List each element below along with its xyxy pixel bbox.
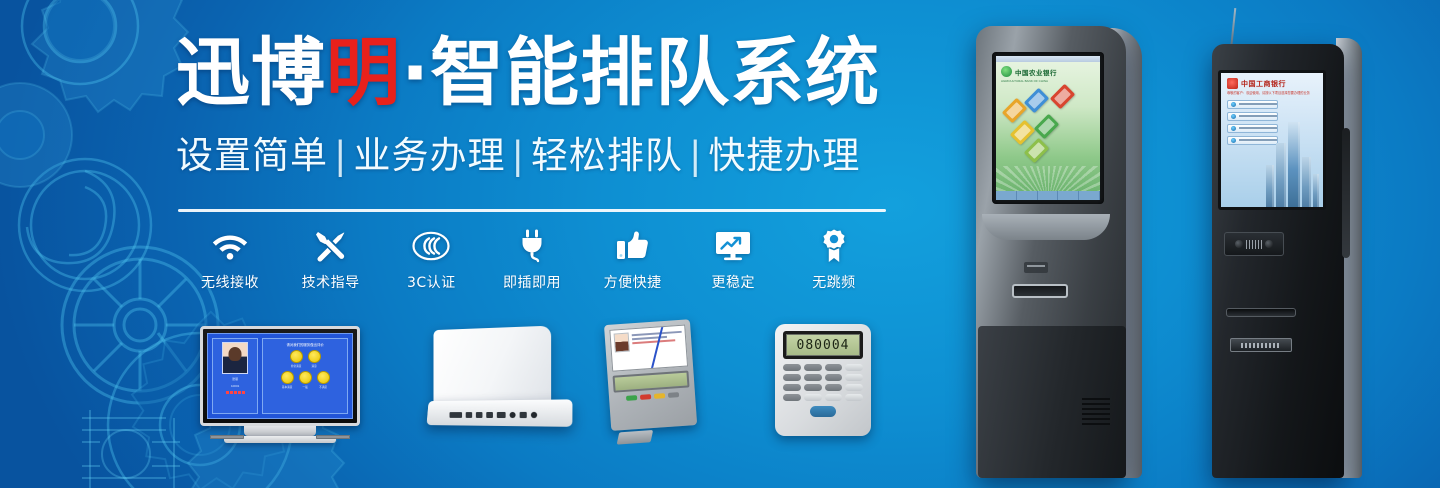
- desk-name-card: [609, 325, 688, 372]
- feature-label: 无线接收: [182, 272, 278, 292]
- screen-tab[interactable]: [1017, 191, 1038, 200]
- monitor-chart-icon: [685, 226, 781, 266]
- kiosk-b-skyline-decoration: [1266, 111, 1323, 207]
- kiosk-queue-icbc: 中国工商银行 尊敬的客户：欢迎使用，请按以下项目选择您要办理的业务: [1196, 8, 1376, 478]
- title-part-4: 智能排队系统: [430, 30, 880, 116]
- desk-button-other[interactable]: [667, 392, 678, 398]
- keypad-key[interactable]: [783, 364, 801, 371]
- rating-option-label: 基本满意: [281, 385, 294, 389]
- service-tile[interactable]: [1024, 88, 1049, 113]
- keypad-key[interactable]: [845, 394, 863, 401]
- rating-option-label: 非常满意: [290, 364, 303, 368]
- feature-item-plug-and-play: 即插即用: [484, 226, 580, 292]
- monitor-port-strip: [200, 435, 360, 439]
- kiosk-a-screen-housing: 中国农业银行 AGRICULTURAL BANK OF CHINA: [992, 52, 1104, 204]
- feature-list: 无线接收 技术指导 3C认证: [182, 226, 882, 292]
- icbc-logo-mark-icon: [1227, 78, 1238, 89]
- host-port-row: [450, 412, 538, 418]
- keypad-display-value: 080004: [786, 334, 860, 356]
- subtitle-item-4: 快捷办理: [708, 134, 860, 177]
- keypad-key[interactable]: [825, 374, 843, 381]
- rating-row-bottom: 基本满意 一般 不满意: [281, 371, 330, 389]
- monitor-screen: 张丽 10001 请对我们的服务做出评价 非常满意 满意 基本满意 一般: [207, 333, 353, 419]
- subtitle-separator: |: [683, 134, 708, 177]
- rating-option-label: 一般: [299, 385, 312, 389]
- wifi-icon: [182, 226, 278, 266]
- desk-button-row: [614, 391, 690, 401]
- gear-spiral-icon: [0, 140, 170, 310]
- desk-staff-photo: [614, 333, 630, 353]
- product-keypad-terminal: 080004: [775, 324, 875, 440]
- feature-item-more-stable: 更稳定: [685, 226, 781, 292]
- keypad-key-grid[interactable]: [783, 364, 863, 401]
- feature-label: 3C认证: [383, 272, 479, 292]
- rating-option[interactable]: 基本满意: [281, 371, 294, 389]
- subtitle-item-1: 设置简单: [176, 134, 328, 177]
- product-monitor-evaluator: 张丽 10001 请对我们的服务做出评价 非常满意 满意 基本满意 一般: [200, 326, 360, 439]
- rating-row-top: 非常满意 满意: [290, 350, 321, 368]
- subtitle-separator: |: [505, 134, 530, 177]
- keypad-key[interactable]: [845, 384, 863, 391]
- subtitle-separator: |: [328, 134, 353, 177]
- product-host-controller: [420, 328, 570, 438]
- service-tile[interactable]: [1010, 120, 1035, 145]
- keypad-enter-button[interactable]: [810, 406, 836, 417]
- kiosk-b-vertical-slot: [1342, 128, 1350, 258]
- kiosk-b-brand-plate: [1230, 338, 1292, 352]
- kiosk-a-vent: [1082, 398, 1110, 432]
- title-part-highlight: 明: [326, 30, 401, 116]
- screen-tab[interactable]: [996, 191, 1017, 200]
- feature-label: 即插即用: [484, 272, 580, 292]
- kiosk-b-bank-logo: 中国工商银行: [1221, 73, 1323, 90]
- rating-option-label: 不满意: [317, 385, 330, 389]
- rating-option[interactable]: 不满意: [317, 371, 330, 389]
- product-showcase: 张丽 10001 请对我们的服务做出评价 非常满意 满意 基本满意 一般: [0, 318, 900, 458]
- desk-evaluator-body: [604, 319, 697, 431]
- kiosk-b-screen-housing: 中国工商银行 尊敬的客户：欢迎使用，请按以下项目选择您要办理的业务: [1218, 70, 1326, 210]
- subtitle-item-3: 轻松排队: [531, 134, 683, 177]
- rating-option[interactable]: 满意: [308, 350, 321, 368]
- service-tile[interactable]: [1050, 84, 1075, 109]
- kiosk-b-bank-name: 中国工商银行: [1241, 79, 1286, 89]
- keypad-key[interactable]: [825, 384, 843, 391]
- feature-label: 无跳频: [786, 272, 882, 292]
- staff-name: 张丽: [232, 377, 238, 381]
- keypad-key[interactable]: [825, 364, 843, 371]
- rating-option[interactable]: 非常满意: [290, 350, 303, 368]
- screen-tab[interactable]: [1079, 191, 1100, 200]
- headline-block: 迅博明·智能排队系统 设置简单|业务办理|轻松排队|快捷办理: [176, 36, 896, 179]
- menu-item[interactable]: [1227, 100, 1278, 109]
- keypad-key[interactable]: [783, 394, 801, 401]
- keypad-key[interactable]: [783, 374, 801, 381]
- kiosk-a-bank-logo: 中国农业银行: [996, 62, 1100, 79]
- feature-item-convenient: 方便快捷: [585, 226, 681, 292]
- horizontal-divider: [178, 209, 886, 212]
- page-title: 迅博明·智能排队系统: [176, 36, 896, 111]
- keypad-body: 080004: [775, 324, 871, 436]
- rating-stars: [226, 391, 245, 394]
- service-tile[interactable]: [1024, 138, 1049, 163]
- monitor-bezel: 张丽 10001 请对我们的服务做出评价 非常满意 满意 基本满意 一般: [200, 326, 360, 426]
- feature-item-no-freq-hop: 无跳频: [786, 226, 882, 292]
- kiosk-b-ticket-slot[interactable]: [1226, 308, 1296, 317]
- tools-icon: [283, 226, 379, 266]
- keypad-key[interactable]: [783, 384, 801, 391]
- desk-lcd-display: [613, 370, 690, 392]
- product-desktop-evaluator: [596, 319, 708, 444]
- desk-card-text: [632, 329, 684, 366]
- keypad-key[interactable]: [845, 364, 863, 371]
- kiosk-a-screen[interactable]: 中国农业银行 AGRICULTURAL BANK OF CHINA: [996, 56, 1100, 200]
- host-panel: [433, 326, 551, 411]
- keypad-key[interactable]: [804, 374, 822, 381]
- desk-button-average[interactable]: [653, 393, 664, 399]
- desk-button-satisfied[interactable]: [625, 395, 636, 401]
- ccc-icon: [383, 226, 479, 266]
- keypad-key[interactable]: [804, 384, 822, 391]
- kiosk-a-service-tiles[interactable]: [996, 85, 1100, 169]
- feature-label: 方便快捷: [585, 272, 681, 292]
- title-part-1: 迅博: [176, 30, 326, 116]
- subtitle: 设置简单|业务办理|轻松排队|快捷办理: [176, 125, 896, 179]
- kiosk-a-screen-tabbar[interactable]: [996, 191, 1100, 200]
- staff-card-panel: 张丽 10001: [212, 338, 258, 414]
- rating-panel: 请对我们的服务做出评价 非常满意 满意 基本满意 一般 不满意: [262, 338, 348, 414]
- desk-stand: [617, 430, 654, 445]
- feature-label: 更稳定: [685, 272, 781, 292]
- keypad-key[interactable]: [825, 394, 843, 401]
- kiosk-b-screen[interactable]: 中国工商银行 尊敬的客户：欢迎使用，请按以下项目选择您要办理的业务: [1221, 73, 1323, 207]
- kiosk-a-bank-subtitle: AGRICULTURAL BANK OF CHINA: [996, 79, 1100, 83]
- plug-icon: [484, 226, 580, 266]
- abc-logo-mark-icon: [1001, 66, 1012, 77]
- gear-left-edge-icon: [0, 70, 160, 200]
- feature-item-tech-support: 技术指导: [283, 226, 379, 292]
- kiosk-a-ticket-slot[interactable]: [1012, 284, 1068, 298]
- promo-banner: 迅博明·智能排队系统 设置简单|业务办理|轻松排队|快捷办理 无线接收: [0, 0, 1440, 488]
- staff-photo: [222, 342, 248, 374]
- kiosk-b-notice: 尊敬的客户：欢迎使用，请按以下项目选择您要办理的业务: [1221, 90, 1323, 96]
- award-icon: [786, 226, 882, 266]
- keypad-key[interactable]: [804, 364, 822, 371]
- feature-item-3c-certified: 3C认证: [383, 226, 479, 292]
- kiosk-a-bank-name: 中国农业银行: [1015, 67, 1057, 77]
- rating-option-label: 满意: [308, 364, 321, 368]
- subtitle-item-2: 业务办理: [353, 134, 505, 177]
- screen-tab[interactable]: [1058, 191, 1079, 200]
- thumbs-up-icon: [585, 226, 681, 266]
- feature-label: 技术指导: [283, 272, 379, 292]
- staff-id: 10001: [231, 384, 239, 388]
- feature-item-wireless: 无线接收: [182, 226, 278, 292]
- rating-question: 请对我们的服务做出评价: [286, 342, 323, 347]
- keypad-key[interactable]: [845, 374, 863, 381]
- service-tile[interactable]: [1034, 114, 1059, 139]
- rating-option[interactable]: 一般: [299, 371, 312, 389]
- ticket-printer-icon: [1024, 262, 1048, 273]
- keypad-lcd-housing: 080004: [783, 331, 863, 359]
- kiosk-a-curved-panel: [982, 214, 1110, 240]
- screen-tab[interactable]: [1038, 191, 1059, 200]
- kiosk-queue-abc: 中国农业银行 AGRICULTURAL BANK OF CHINA: [966, 26, 1152, 478]
- desk-button-unsatisfied[interactable]: [639, 394, 650, 400]
- keypad-key[interactable]: [804, 394, 822, 401]
- kiosk-b-card-reader[interactable]: [1224, 232, 1284, 256]
- title-part-dot: ·: [401, 30, 430, 116]
